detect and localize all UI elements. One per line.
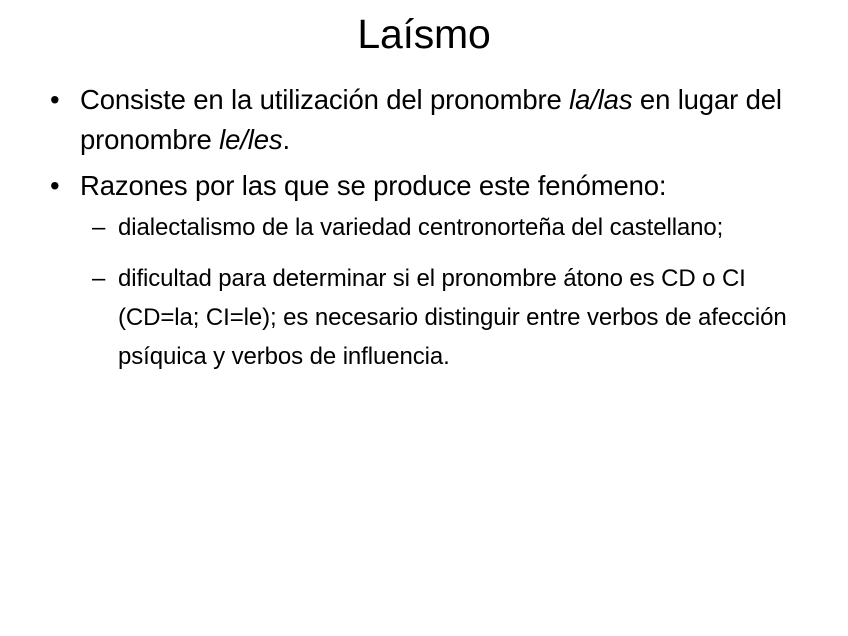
bullet-item-2: • Razones por las que se produce este fe… [40, 166, 808, 206]
slide-body-placeholder: • Consiste en la utilización del pronomb… [40, 80, 808, 382]
bullet-dash-icon: – [92, 259, 105, 298]
sub-bullet-2-2-text: dificultad para determinar si el pronomb… [118, 265, 787, 370]
bullet-group-2: • Razones por las que se produce este fe… [40, 166, 808, 376]
sub-bullet-item-2-1: – dialectalismo de la variedad centronor… [40, 208, 808, 247]
sub-bullet-2-1-text: dialectalismo de la variedad centronorte… [118, 214, 723, 241]
bullet-dot-icon: • [50, 80, 59, 120]
bullet-1-run-a: Consiste en la utilización del pronombre [80, 84, 569, 115]
presentation-slide: Laísmo • Consiste en la utilización del … [0, 0, 848, 636]
slide-title: Laísmo [0, 8, 848, 60]
sub-bullet-spacer [40, 247, 808, 259]
bullet-1-run-d-italic: le/les [219, 124, 282, 155]
sub-bullet-item-2-2: – dificultad para determinar si el prono… [40, 259, 808, 376]
bullet-dash-icon: – [92, 208, 105, 247]
bullet-1-run-e: . [282, 124, 290, 155]
bullet-item-1: • Consiste en la utilización del pronomb… [40, 80, 808, 160]
bullet-1-run-b-italic: la/las [569, 84, 632, 115]
bullet-2-text: Razones por las que se produce este fenó… [80, 170, 666, 201]
bullet-dot-icon: • [50, 166, 59, 206]
bullet-group-1: • Consiste en la utilización del pronomb… [40, 80, 808, 160]
